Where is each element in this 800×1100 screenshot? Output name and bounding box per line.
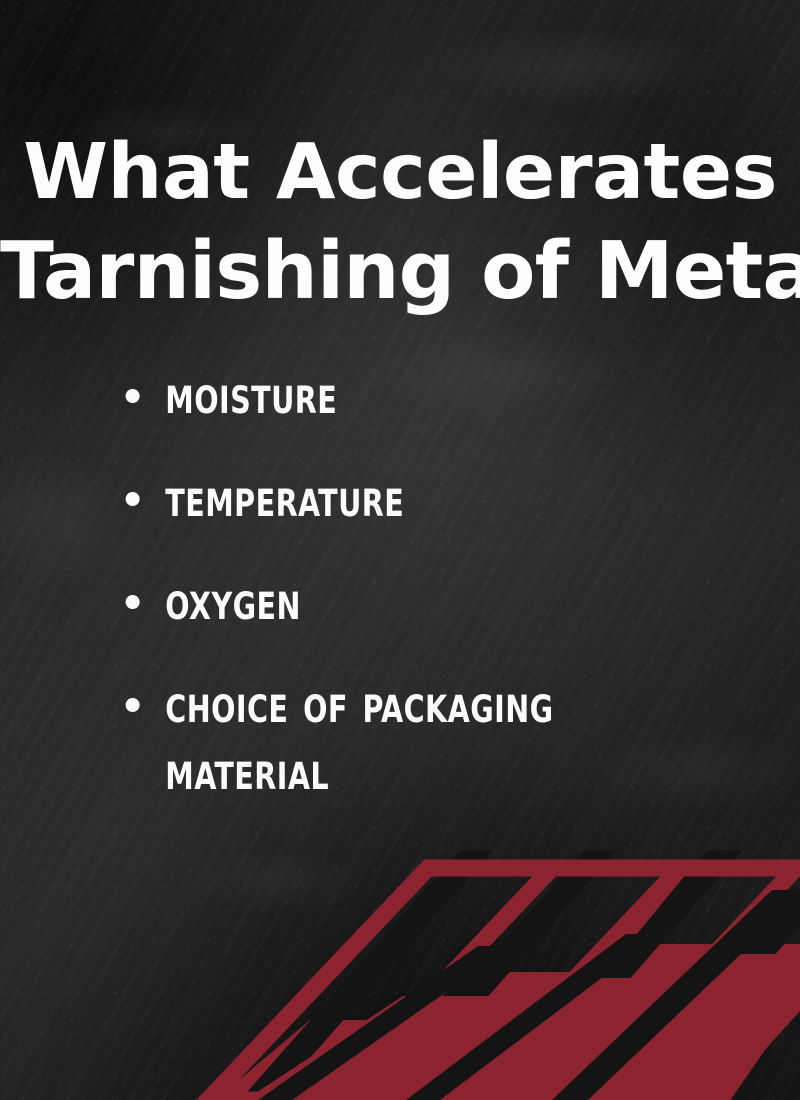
list-item-label: Temperature — [165, 468, 404, 529]
list-item: Moisture — [118, 362, 686, 429]
list-item: Oxygen — [118, 568, 686, 635]
list-item: Temperature — [118, 465, 686, 532]
bullet-dot-icon — [126, 389, 140, 403]
title-line-1: What Accelerates — [0, 124, 800, 222]
bullet-dot-icon — [126, 492, 140, 506]
factors-list: Moisture Temperature Oxygen Choice of Pa… — [118, 362, 778, 841]
bullet-dot-icon — [126, 698, 140, 712]
list-item: Choice of Packaging Material — [118, 671, 686, 805]
list-item-label: Moisture — [165, 365, 337, 426]
poster-content: What Accelerates Tarnishing of Metal? Mo… — [0, 0, 800, 1100]
bullet-dot-icon — [126, 595, 140, 609]
list-item-label: Choice of Packaging Material — [165, 674, 553, 802]
title-line-2: Tarnishing of Metal? — [0, 222, 800, 320]
page-title: What Accelerates Tarnishing of Metal? — [0, 124, 800, 320]
poster-slide: What Accelerates Tarnishing of Metal? Mo… — [0, 0, 800, 1100]
list-item-label: Oxygen — [165, 571, 301, 632]
